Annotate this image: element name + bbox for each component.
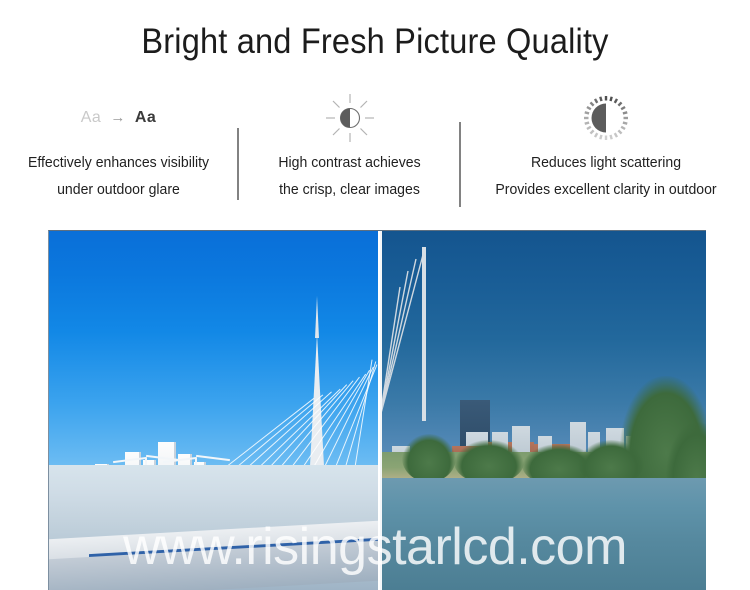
column-divider-2 — [459, 122, 461, 207]
aa-bold-label: Aa — [135, 109, 156, 126]
vivid-bright-panel — [49, 231, 378, 590]
feature-scattering-line1: Reduces light scattering — [466, 150, 745, 177]
feature-contrast-line2: the crisp, clear images — [243, 177, 455, 204]
feature-row: Aa→Aa Effectively enhances visibility un… — [0, 92, 750, 217]
light-scatter-icon-slot — [462, 92, 750, 144]
aa-dim-label: Aa — [81, 109, 102, 126]
sun-contrast-icon-slot — [240, 92, 459, 144]
aa-contrast-icon: Aa→Aa — [0, 92, 237, 144]
light-scatter-icon — [580, 92, 632, 144]
dull-muted-panel — [380, 231, 706, 590]
feature-visibility-line1: Effectively enhances visibility — [4, 150, 234, 177]
feature-visibility: Aa→Aa Effectively enhances visibility un… — [0, 92, 237, 204]
feature-visibility-line2: under outdoor glare — [4, 177, 234, 204]
tree — [402, 434, 456, 482]
feature-scattering: Reduces light scattering Provides excell… — [462, 92, 750, 204]
arrow-right-icon: → — [110, 109, 126, 126]
column-divider-1 — [237, 128, 239, 200]
page-title: Bright and Fresh Picture Quality — [26, 22, 724, 62]
sun-contrast-icon — [324, 92, 376, 144]
comparison-image — [48, 230, 706, 590]
feature-contrast: High contrast achieves the crisp, clear … — [240, 92, 459, 204]
water-body — [382, 478, 706, 590]
feature-scattering-line2: Provides excellent clarity in outdoor — [466, 177, 745, 204]
feature-contrast-line1: High contrast achieves — [243, 150, 455, 177]
bridge-cable-edge — [380, 231, 448, 421]
